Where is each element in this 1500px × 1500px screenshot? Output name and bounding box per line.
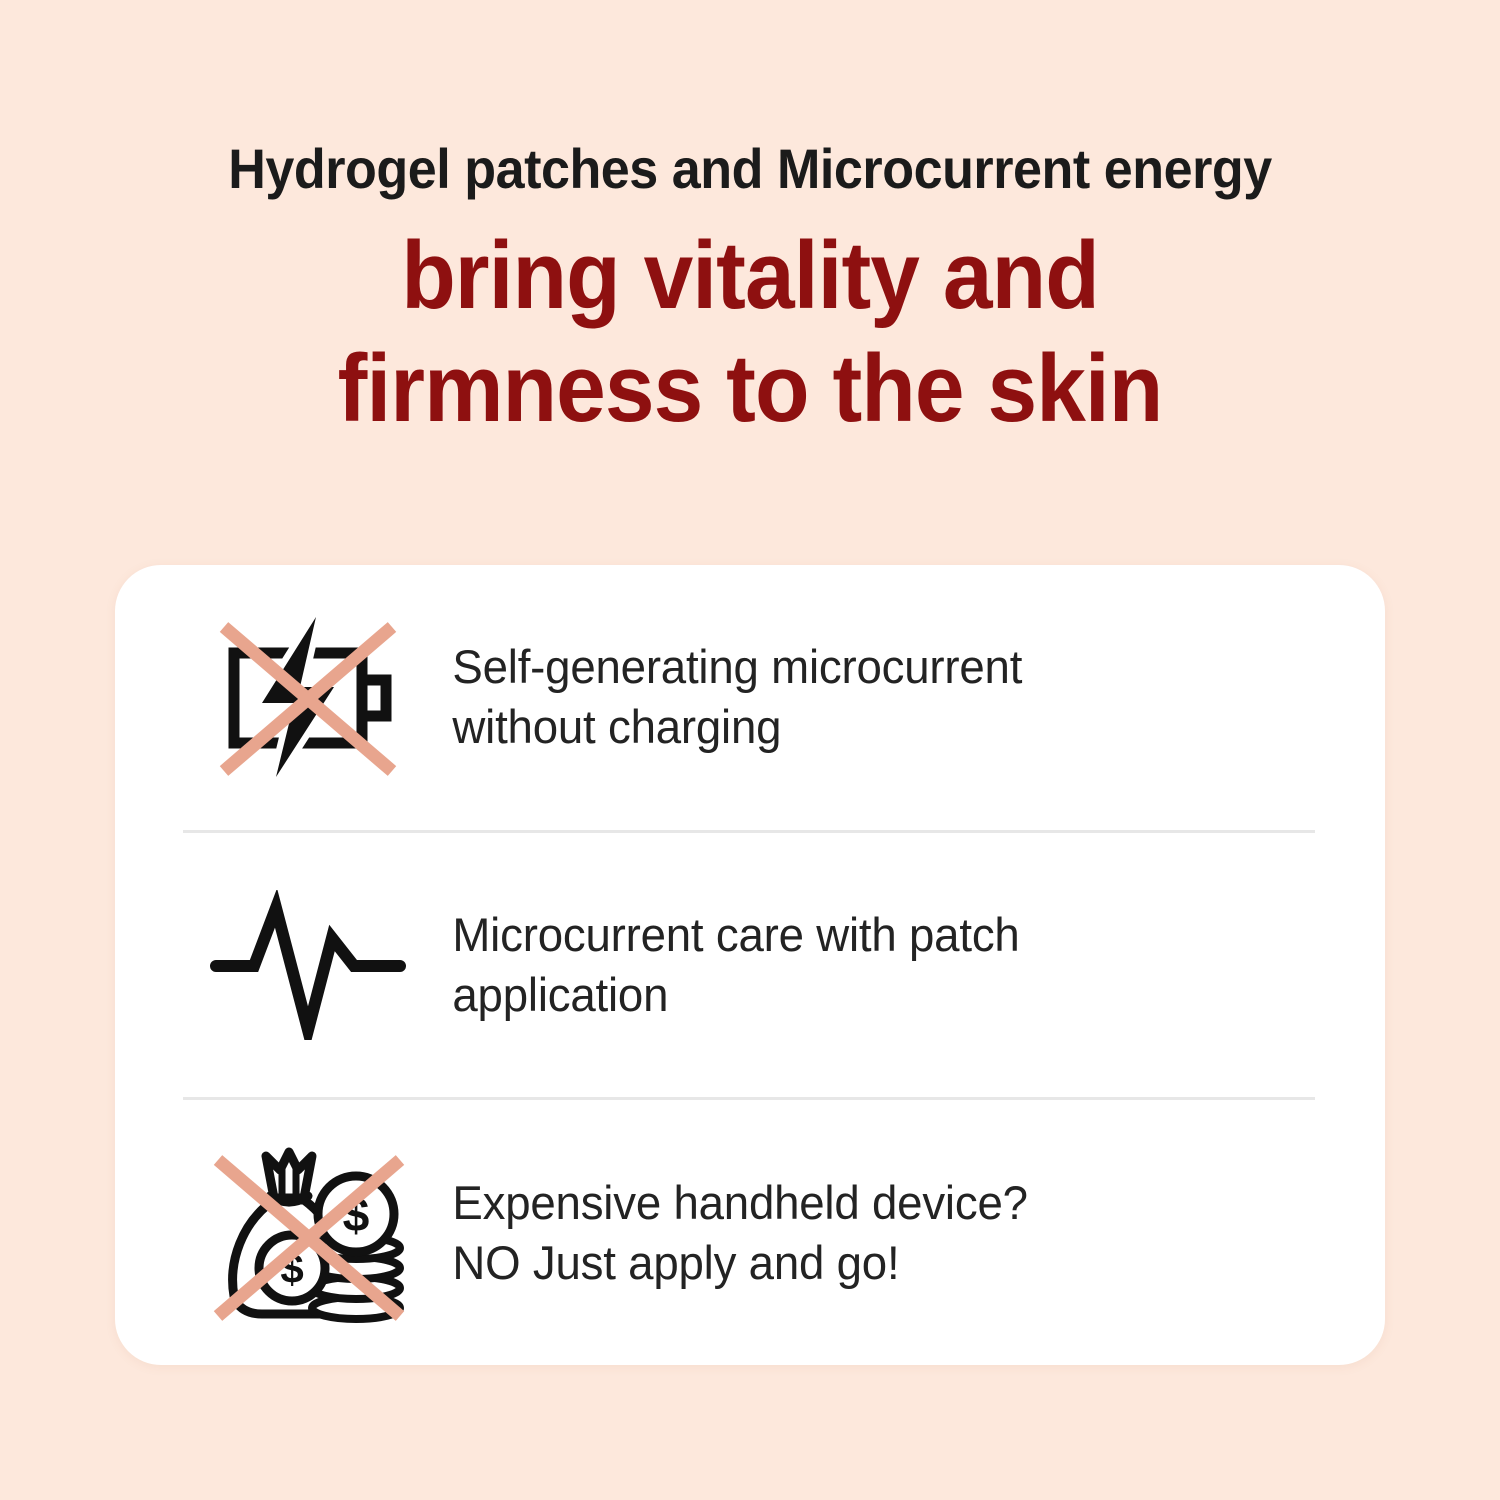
battery-bolt-crossed-out-icon (183, 602, 433, 792)
feature-row-1-line-2: without charging (452, 697, 1288, 757)
feature-row-2-line-2: application (452, 965, 1288, 1025)
feature-row-3: $ $ Expensive handheld device? NO Just a… (115, 1100, 1385, 1365)
feature-row-2-line-1: Microcurrent care with patch (452, 905, 1288, 965)
headline-main: bring vitality and firmness to the skin (53, 219, 1448, 446)
feature-row-1-text: Self-generating microcurrent without cha… (433, 637, 1289, 757)
pulse-waveform-icon (183, 870, 433, 1060)
feature-row-2-text: Microcurrent care with patch application (433, 905, 1289, 1025)
feature-card: Self-generating microcurrent without cha… (115, 565, 1385, 1365)
feature-row-3-text: Expensive handheld device? NO Just apply… (433, 1173, 1289, 1293)
headline-main-line-1: bring vitality and (53, 219, 1448, 332)
feature-row-3-line-2: NO Just apply and go! (452, 1233, 1288, 1293)
infographic-page: Hydrogel patches and Microcurrent energy… (0, 0, 1500, 1500)
headline-main-line-2: firmness to the skin (53, 332, 1448, 445)
money-bag-coins-crossed-out-icon: $ $ (183, 1138, 433, 1328)
feature-row-2: Microcurrent care with patch application (115, 833, 1385, 1098)
headline-eyebrow: Hydrogel patches and Microcurrent energy (53, 140, 1448, 197)
feature-row-1: Self-generating microcurrent without cha… (115, 565, 1385, 830)
feature-row-3-line-1: Expensive handheld device? (452, 1173, 1288, 1233)
headline-block: Hydrogel patches and Microcurrent energy… (0, 140, 1500, 446)
feature-row-1-line-1: Self-generating microcurrent (452, 637, 1288, 697)
